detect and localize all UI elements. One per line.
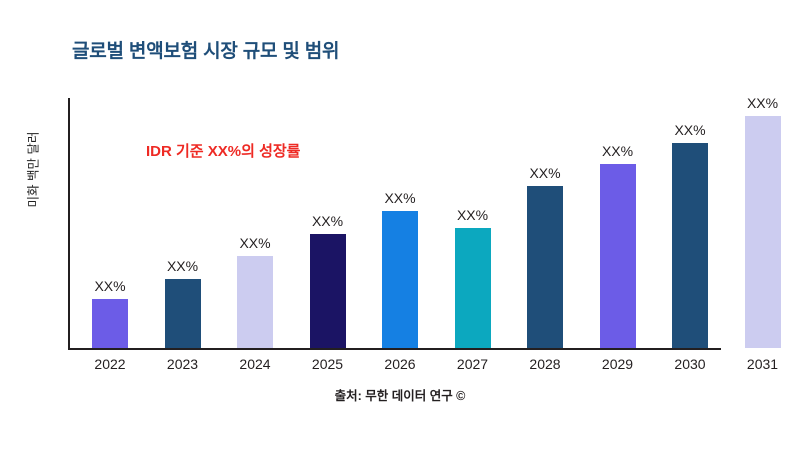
growth-rate-annotation: IDR 기준 XX%의 성장률 <box>146 140 300 161</box>
x-tick-2026: 2026 <box>364 356 436 372</box>
bar-2031[interactable] <box>745 116 781 348</box>
x-tick-2028: 2028 <box>509 356 581 372</box>
source-note: 출처: 무한 데이터 연구 © <box>0 385 800 404</box>
y-axis-line <box>68 98 70 350</box>
bar-value-label-2025: XX% <box>294 213 362 229</box>
x-tick-2029: 2029 <box>582 356 654 372</box>
x-tick-2030: 2030 <box>654 356 726 372</box>
bar-value-label-2030: XX% <box>656 122 724 138</box>
x-tick-2022: 2022 <box>74 356 146 372</box>
bar-value-label-2029: XX% <box>584 143 652 159</box>
bar-2025[interactable] <box>310 234 346 348</box>
bar-value-label-2024: XX% <box>221 235 289 251</box>
bar-2023[interactable] <box>165 279 201 348</box>
bar-value-label-2023: XX% <box>149 258 217 274</box>
bar-value-label-2028: XX% <box>511 165 579 181</box>
bar-2024[interactable] <box>237 256 273 348</box>
bar-value-label-2022: XX% <box>76 278 144 294</box>
y-axis-label: 미화 백만 달러 <box>23 110 42 230</box>
bar-value-label-2031: XX% <box>729 95 797 111</box>
x-tick-2025: 2025 <box>292 356 364 372</box>
x-axis-line <box>68 348 721 350</box>
bar-2026[interactable] <box>382 211 418 348</box>
bar-value-label-2027: XX% <box>439 207 507 223</box>
plot-area: XX%XX%XX%XX%XX%XX%XX%XX%XX%XX% <box>68 98 790 350</box>
x-tick-2023: 2023 <box>147 356 219 372</box>
bar-2027[interactable] <box>455 228 491 348</box>
x-tick-2031: 2031 <box>727 356 799 372</box>
x-tick-2024: 2024 <box>219 356 291 372</box>
bar-2030[interactable] <box>672 143 708 348</box>
chart-title: 글로벌 변액보험 시장 규모 및 범위 <box>72 36 339 63</box>
x-tick-2027: 2027 <box>437 356 509 372</box>
bar-2028[interactable] <box>527 186 563 348</box>
chart-container: 글로벌 변액보험 시장 규모 및 범위 미화 백만 달러 XX%XX%XX%XX… <box>0 0 800 450</box>
bar-value-label-2026: XX% <box>366 190 434 206</box>
bar-2029[interactable] <box>600 164 636 348</box>
bar-2022[interactable] <box>92 299 128 348</box>
